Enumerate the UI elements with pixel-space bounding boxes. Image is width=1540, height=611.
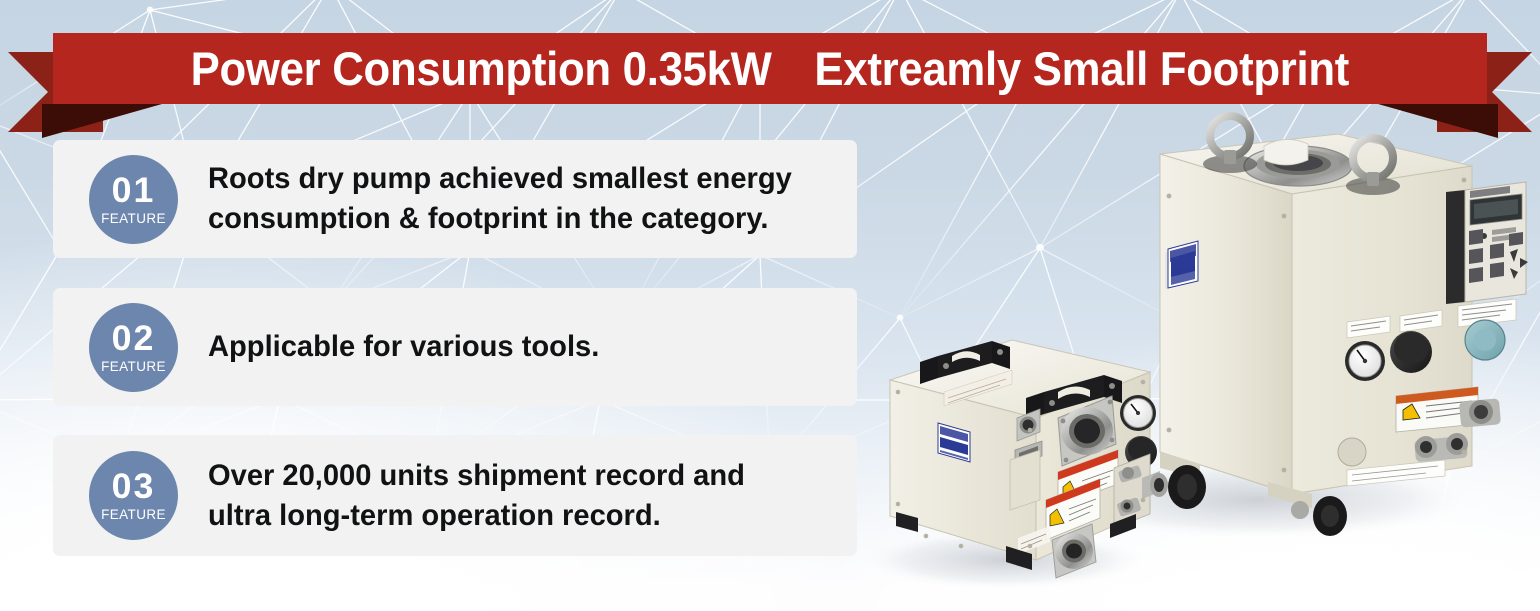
feature-text-line-2: ultra long-term operation record. bbox=[208, 496, 745, 536]
small-pump-pressure-gauge bbox=[1120, 395, 1156, 431]
feature-sublabel: FEATURE bbox=[101, 212, 166, 226]
feature-card-02: 02 FEATURE Applicable for various tools. bbox=[53, 288, 857, 406]
feature-card-01: 01 FEATURE Roots dry pump achieved small… bbox=[53, 140, 857, 258]
large-pump-model-label bbox=[1165, 241, 1198, 289]
large-pump-outlet-connector bbox=[1459, 398, 1501, 427]
feature-number: 02 bbox=[112, 321, 156, 356]
feature-text-03: Over 20,000 units shipment record and ul… bbox=[208, 456, 745, 536]
feature-text-02: Applicable for various tools. bbox=[208, 327, 599, 367]
large-pump-eyebolt-left bbox=[1203, 116, 1257, 173]
product-photo-group bbox=[860, 0, 1540, 611]
small-pump-blank-panel bbox=[1010, 450, 1040, 510]
feature-text-line-1: Roots dry pump achieved smallest energy bbox=[208, 159, 792, 199]
banner-title-left: Power Consumption 0.35kW bbox=[191, 42, 772, 95]
large-pump-control-panel bbox=[1446, 182, 1528, 304]
large-pump-round-plate bbox=[1338, 438, 1366, 466]
feature-sublabel: FEATURE bbox=[101, 508, 166, 522]
vacuum-pumps-illustration bbox=[860, 0, 1540, 611]
feature-badge-01: 01 FEATURE bbox=[89, 155, 178, 244]
large-pump-n2-valve bbox=[1465, 320, 1505, 360]
large-pump-regulator-knob bbox=[1390, 331, 1432, 373]
feature-text-01: Roots dry pump achieved smallest energy … bbox=[208, 159, 792, 239]
feature-text-line-1: Applicable for various tools. bbox=[208, 327, 599, 367]
feature-number: 01 bbox=[112, 173, 156, 208]
feature-badge-02: 02 FEATURE bbox=[89, 303, 178, 392]
feature-text-line-1: Over 20,000 units shipment record and bbox=[208, 456, 745, 496]
feature-sublabel: FEATURE bbox=[101, 360, 166, 374]
feature-text-line-2: consumption & footprint in the category. bbox=[208, 199, 792, 239]
large-pump-pressure-gauge bbox=[1345, 341, 1385, 381]
ribbon-fold-shadow-left-icon bbox=[42, 104, 162, 138]
feature-badge-03: 03 FEATURE bbox=[89, 451, 178, 540]
large-pump-pipe-stub bbox=[1264, 139, 1308, 165]
promo-banner-graphic: Power Consumption 0.35kWExtreamly Small … bbox=[0, 0, 1540, 611]
feature-number: 03 bbox=[112, 469, 156, 504]
feature-card-03: 03 FEATURE Over 20,000 units shipment re… bbox=[53, 435, 857, 556]
